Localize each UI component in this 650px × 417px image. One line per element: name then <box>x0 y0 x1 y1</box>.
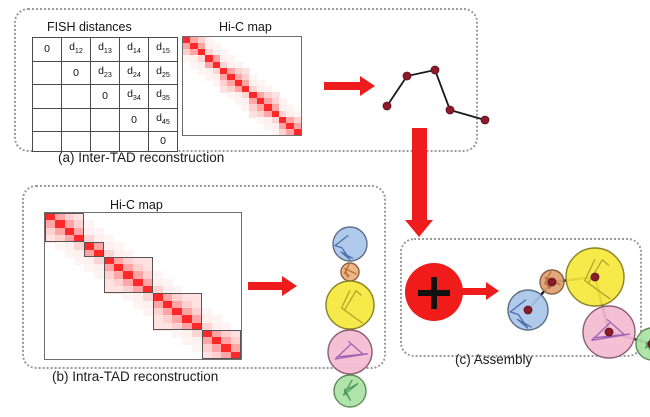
fish-cell-r4-c2 <box>62 108 91 132</box>
assembly-node-marker-2 <box>548 278 556 286</box>
hic-map-b-title: Hi-C map <box>110 198 163 212</box>
tad-unit-tad-3 <box>326 281 374 329</box>
table-row: 0d12d13d14d15 <box>33 38 178 62</box>
hic-map-inter-tad <box>182 36 302 136</box>
tad-unit-tad-1 <box>333 227 367 261</box>
fish-cell-r3-c1 <box>33 85 62 109</box>
fish-cell-r2-c3: d23 <box>91 61 120 85</box>
fish-cell-r1-c3: d13 <box>91 38 120 62</box>
backbone-node-5 <box>481 116 489 124</box>
figure-root: FISH distances 0d12d13d14d150d23d24d250d… <box>0 0 650 400</box>
fish-cell-r2-c1 <box>33 61 62 85</box>
heatmap-cell <box>192 344 202 352</box>
fish-cell-r1-c1: 0 <box>33 38 62 62</box>
caption-panel-b: (b) Intra-TAD reconstruction <box>52 369 218 384</box>
fish-cell-r1-c2: d12 <box>62 38 91 62</box>
table-row: 0d45 <box>33 108 178 132</box>
tad-unit-tad-4 <box>328 330 372 374</box>
assembled-structure <box>492 248 650 368</box>
tad-block-5 <box>202 330 241 359</box>
tad-block-2 <box>84 242 104 257</box>
table-row: 0d23d24d25 <box>33 61 178 85</box>
fish-cell-r5-c2 <box>62 132 91 152</box>
tad-circle <box>341 263 359 281</box>
fish-cell-r4-c1 <box>33 108 62 132</box>
fish-table-title: FISH distances <box>47 20 132 34</box>
tad-circle <box>334 375 366 407</box>
tad-unit-tad-2 <box>341 263 359 281</box>
fish-cell-r3-c5: d35 <box>149 85 178 109</box>
hic-map-a-title: Hi-C map <box>219 20 272 34</box>
heatmap-cell <box>94 271 104 279</box>
heatmap-cell <box>84 264 94 272</box>
fish-cell-r5-c3 <box>91 132 120 152</box>
backbone-node-3 <box>431 66 439 74</box>
backbone-line <box>387 70 485 120</box>
tad-block-1 <box>45 213 84 242</box>
backbone-node-4 <box>446 106 454 114</box>
heatmap-cell <box>172 330 182 338</box>
tad-block-4 <box>153 293 202 330</box>
fish-cell-r2-c5: d25 <box>149 61 178 85</box>
fish-cell-r2-c2: 0 <box>62 61 91 85</box>
tad-circle <box>328 330 372 374</box>
assembly-node-marker-1 <box>524 306 532 314</box>
table-row: 0 <box>33 132 178 152</box>
caption-panel-c: (c) Assembly <box>455 352 532 367</box>
tad-block-3 <box>104 257 153 294</box>
fish-cell-r3-c4: d34 <box>120 85 149 109</box>
heatmap-cell <box>55 242 65 250</box>
fish-cell-r1-c4: d14 <box>120 38 149 62</box>
fish-cell-r2-c4: d24 <box>120 61 149 85</box>
heatmap-cell <box>143 308 153 316</box>
fish-cell-r3-c2 <box>62 85 91 109</box>
assembly-plus-operator <box>405 263 463 321</box>
fish-cell-r4-c3 <box>91 108 120 132</box>
assembly-node-marker-4 <box>605 328 613 336</box>
fish-cell-r5-c4 <box>120 132 149 152</box>
fish-cell-r4-c4: 0 <box>120 108 149 132</box>
tad-circle <box>326 281 374 329</box>
fish-cell-r1-c5: d15 <box>149 38 178 62</box>
heatmap-cell <box>182 337 192 345</box>
heatmap-cell <box>133 301 143 309</box>
fish-cell-r3-c3: 0 <box>91 85 120 109</box>
fish-cell-r4-c5: d45 <box>149 108 178 132</box>
tad-circle-column <box>290 222 410 417</box>
backbone-node-2 <box>403 72 411 80</box>
tad-unit-tad-5 <box>334 375 366 407</box>
backbone-node-1 <box>383 102 391 110</box>
assembly-node-marker-3 <box>591 273 599 281</box>
heatmap-cell <box>74 257 84 265</box>
heatmap-cell <box>123 293 133 301</box>
fish-cell-r5-c5: 0 <box>149 132 178 152</box>
heatmap-cell <box>65 250 75 258</box>
heatmap-cell <box>294 129 302 136</box>
hic-map-intra-tad <box>44 212 242 360</box>
fish-cell-r5-c1 <box>33 132 62 152</box>
table-row: 0d34d35 <box>33 85 178 109</box>
caption-panel-a: (a) Inter-TAD reconstruction <box>58 150 224 165</box>
fish-distance-table: 0d12d13d14d150d23d24d250d34d350d450 <box>32 37 178 152</box>
inter-tad-backbone-polyline <box>382 48 512 143</box>
